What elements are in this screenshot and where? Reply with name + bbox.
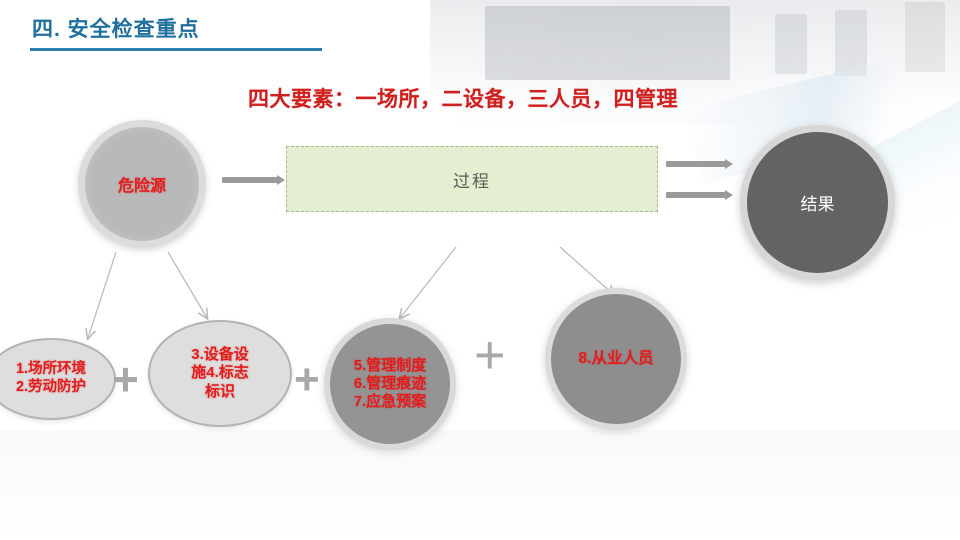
node-element-2-line-3: 标识 xyxy=(191,383,249,401)
arrow-process-to-result-2 xyxy=(666,192,726,198)
page-title-text: 四. 安全检查重点 xyxy=(32,18,332,42)
node-element-1-line-2: 2.劳动防护 xyxy=(16,379,86,397)
background-monitor-large xyxy=(485,6,730,80)
node-element-2-label: 3.设备设 施4.标志 标识 xyxy=(191,346,249,401)
node-element-3-line-3: 7.应急预案 xyxy=(354,393,427,411)
page-title: 四. 安全检查重点 xyxy=(32,18,332,42)
node-element-2-line-1: 3.设备设 xyxy=(191,346,249,364)
node-element-4[interactable]: 8.从业人员 xyxy=(545,288,687,430)
arrow-process-to-result-1 xyxy=(666,161,726,167)
slide-canvas: 四. 安全检查重点 四大要素：一场所，二设备，三人员，四管理 危险源 过程 结果… xyxy=(0,0,960,540)
node-element-3-line-1: 5.管理制度 xyxy=(354,357,427,375)
node-element-3[interactable]: 5.管理制度 6.管理痕迹 7.应急预案 xyxy=(324,318,456,450)
node-element-3-label: 5.管理制度 6.管理痕迹 7.应急预案 xyxy=(354,357,427,412)
plus-operator-3: + xyxy=(474,328,506,382)
plus-operator-1: + xyxy=(112,356,139,402)
node-hazard-source-label: 危险源 xyxy=(118,172,166,196)
node-element-4-label: 8.从业人员 xyxy=(579,350,654,369)
subtitle-four-elements: 四大要素：一场所，二设备，三人员，四管理 xyxy=(248,83,678,113)
node-element-4-line-1: 8.从业人员 xyxy=(579,350,654,369)
background-monitor-small-1 xyxy=(775,14,807,74)
node-result[interactable]: 结果 xyxy=(740,125,895,280)
background-bottom-fade xyxy=(0,430,960,540)
node-process-label: 过程 xyxy=(453,167,491,192)
arrow-hazard-to-process xyxy=(222,177,278,183)
node-result-label: 结果 xyxy=(801,190,835,215)
background-monitor-small-3 xyxy=(905,2,945,72)
title-underline xyxy=(30,48,322,51)
node-element-1[interactable]: 1.场所环境 2.劳动防护 xyxy=(0,338,116,420)
node-element-1-label: 1.场所环境 2.劳动防护 xyxy=(16,361,86,396)
node-process[interactable]: 过程 xyxy=(286,146,658,212)
node-hazard-source[interactable]: 危险源 xyxy=(78,120,206,248)
node-element-3-line-2: 6.管理痕迹 xyxy=(354,375,427,393)
node-element-2-line-2: 施4.标志 xyxy=(191,364,249,382)
background-monitor-small-2 xyxy=(835,10,867,76)
node-element-1-line-1: 1.场所环境 xyxy=(16,361,86,379)
plus-operator-2: + xyxy=(294,358,320,402)
node-element-2[interactable]: 3.设备设 施4.标志 标识 xyxy=(148,320,292,427)
